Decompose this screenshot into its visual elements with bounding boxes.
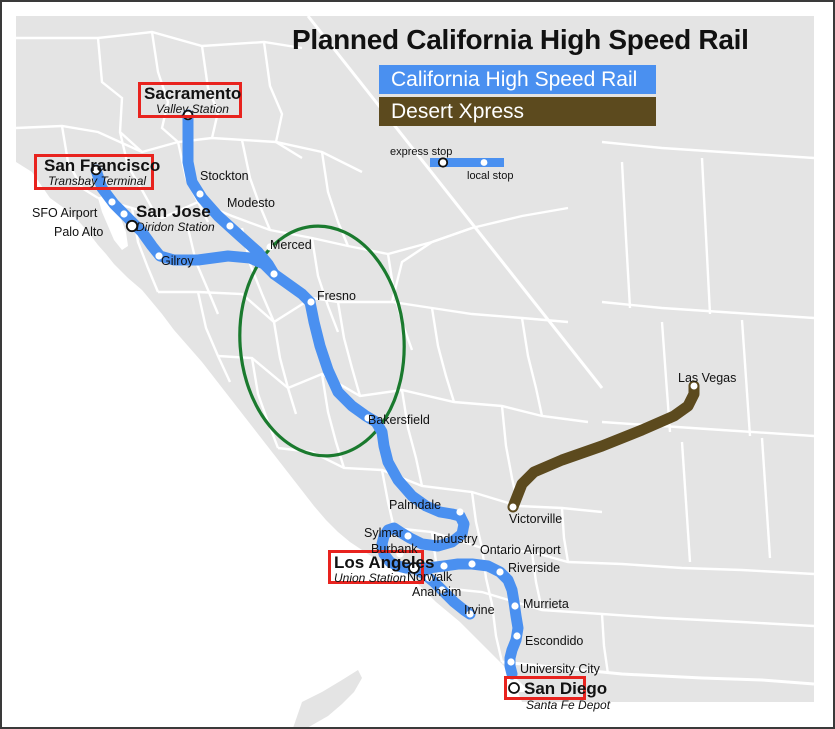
city-sublabel-san-francisco: Transbay Terminal — [48, 174, 146, 188]
city-label-sfo-airport: SFO Airport — [32, 206, 97, 220]
stop-modesto — [226, 222, 233, 229]
stop-victorville — [509, 503, 518, 512]
city-label-san-francisco: San Francisco — [44, 156, 160, 176]
city-sublabel-san-diego: Santa Fe Depot — [526, 698, 610, 712]
city-label-ontario-airport: Ontario Airport — [480, 543, 561, 557]
legend-item-desert-xpress[interactable]: Desert Xpress — [379, 97, 656, 126]
city-label-merced: Merced — [270, 238, 312, 252]
city-label-sylmar: Sylmar — [364, 526, 403, 540]
stop-university-city — [507, 658, 514, 665]
city-sublabel-sacramento: Valley Station — [156, 102, 229, 116]
city-sublabel-san-jose: Diridon Station — [136, 220, 215, 234]
legend-local-dot — [481, 159, 488, 166]
city-label-gilroy: Gilroy — [161, 254, 194, 268]
city-label-irvine: Irvine — [464, 603, 495, 617]
city-label-norwalk: Norwalk — [407, 570, 452, 584]
city-label-escondido: Escondido — [525, 634, 583, 648]
city-label-victorville: Victorville — [509, 512, 562, 526]
stop-murrieta — [511, 602, 518, 609]
city-label-fresno: Fresno — [317, 289, 356, 303]
city-label-stockton: Stockton — [200, 169, 249, 183]
stop-stockton — [196, 190, 203, 197]
stop-palo-alto — [120, 210, 127, 217]
map-canvas: Planned California High Speed Rail Calif… — [0, 0, 835, 729]
legend-item-hsr[interactable]: California High Speed Rail — [379, 65, 656, 94]
stop-palmdale — [456, 508, 463, 515]
city-label-palmdale: Palmdale — [389, 498, 441, 512]
city-label-murrieta: Murrieta — [523, 597, 569, 611]
city-label-burbank: Burbank — [371, 542, 418, 556]
legend-express-dot — [439, 158, 447, 166]
page-title: Planned California High Speed Rail — [292, 24, 772, 56]
stop-sfo-airport — [108, 198, 115, 205]
city-label-sacramento: Sacramento — [144, 84, 241, 104]
city-label-riverside: Riverside — [508, 561, 560, 575]
city-label-las-vegas: Las Vegas — [678, 371, 736, 385]
stop-merced-b — [270, 270, 277, 277]
stop-sylmar — [404, 532, 411, 539]
legend-stop-sample — [430, 158, 504, 167]
stop-industry — [440, 562, 447, 569]
legend-express-stop-label: express stop — [390, 146, 452, 158]
city-label-modesto: Modesto — [227, 196, 275, 210]
city-label-industry: Industry — [433, 532, 477, 546]
city-sublabel-los-angeles: Union Station — [334, 571, 406, 585]
stop-riverside — [496, 568, 503, 575]
city-label-palo-alto: Palo Alto — [54, 225, 103, 239]
city-label-anaheim: Anaheim — [412, 585, 461, 599]
city-label-bakersfield: Bakersfield — [368, 413, 430, 427]
stop-ontario-airport — [468, 560, 475, 567]
stop-fresno — [307, 298, 314, 305]
stop-escondido — [513, 632, 520, 639]
city-label-san-diego: San Diego — [524, 679, 607, 699]
city-label-san-jose: San Jose — [136, 202, 211, 222]
legend-local-stop-label: local stop — [467, 170, 513, 182]
city-label-university-city: University City — [520, 662, 600, 676]
